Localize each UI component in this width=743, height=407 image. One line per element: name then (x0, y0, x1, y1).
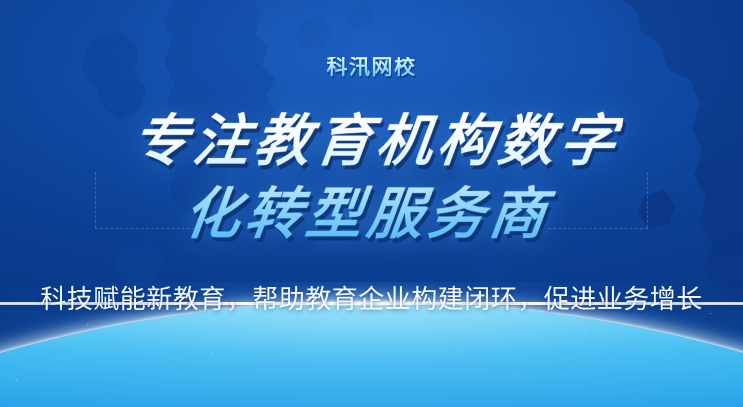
headline-line-2: 化转型服务商 (119, 179, 616, 250)
promo-banner: 科汛网校 专注教育机构数字 化转型服务商 科技赋能新教育，帮助教育企业构建闭环，… (0, 0, 743, 407)
banner-content: 科汛网校 专注教育机构数字 化转型服务商 科技赋能新教育，帮助教育企业构建闭环，… (0, 0, 743, 407)
headline: 专注教育机构数字 化转型服务商 (119, 106, 625, 249)
subtitle: 科技赋能新教育，帮助教育企业构建闭环，促进业务增长 (0, 286, 743, 312)
headline-line-1: 专注教育机构数字 (128, 106, 625, 177)
brand-name: 科汛网校 (327, 57, 417, 78)
